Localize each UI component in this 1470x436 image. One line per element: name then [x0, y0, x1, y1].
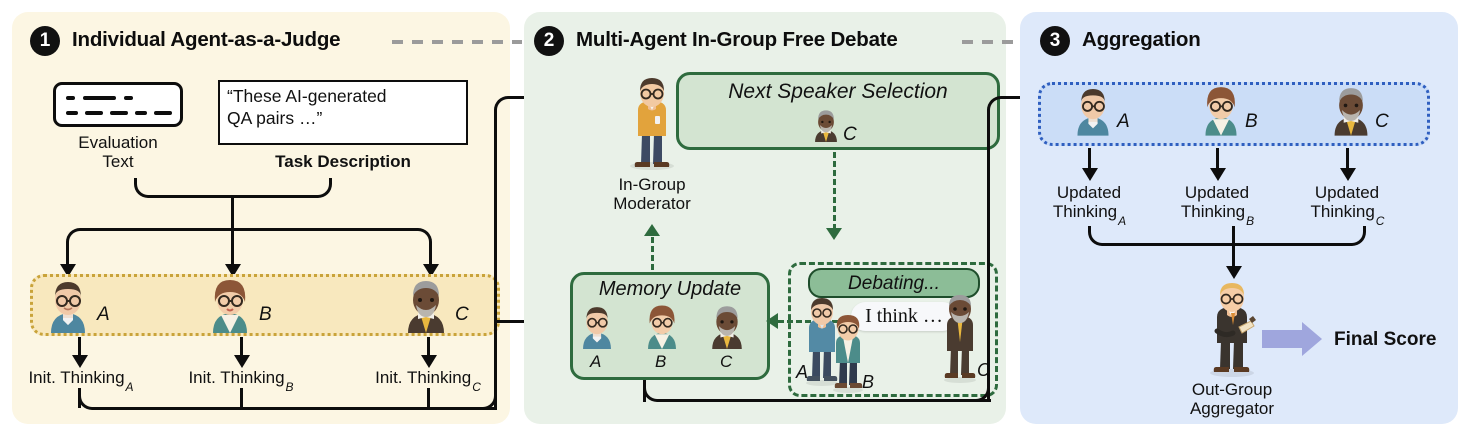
panel-title-3: Aggregation — [1082, 28, 1201, 52]
fanout-stem-b — [231, 228, 234, 266]
moderator-label-line1: In-Group — [618, 175, 685, 194]
final-score-arrow-head — [1302, 322, 1322, 356]
memory-update-title: Memory Update — [570, 278, 770, 301]
updated-thinking-b: Updated ThinkingB — [1161, 183, 1273, 225]
updated-thinking-b-sub: B — [1246, 214, 1254, 228]
evaluation-text-label: Evaluation Text — [38, 133, 198, 171]
agent-c-output-stem — [427, 337, 430, 357]
memory-letter-c: C — [720, 352, 732, 372]
agent-b-output-stem — [240, 337, 243, 357]
final-score-label: Final Score — [1334, 329, 1454, 350]
next-speaker-letter: C — [843, 124, 857, 146]
updated-thinking-a-line1: Updated — [1057, 183, 1121, 202]
avatar-updated-a — [1072, 84, 1114, 136]
agg-arrow-to-aggregator — [1226, 266, 1242, 279]
agent-b-output-arrow — [234, 355, 250, 368]
aggregator-label-line1: Out-Group — [1192, 380, 1272, 399]
updated-letter-b: B — [1245, 111, 1258, 133]
updated-thinking-c: Updated ThinkingC — [1291, 183, 1403, 225]
avatar-memory-c — [708, 303, 746, 349]
panel2-bottom-bus — [661, 399, 991, 402]
avatar-debate-c — [938, 295, 982, 383]
avatar-agent-a — [45, 277, 91, 333]
header-connector-1-2 — [392, 40, 522, 44]
fanout-stem-c — [429, 246, 432, 266]
task-description-label: Task Description — [218, 152, 468, 171]
agent-letter-a-panel1: A — [97, 304, 110, 326]
step-badge-1: 1 — [30, 26, 60, 56]
agent-a-output-arrow — [72, 355, 88, 368]
avatar-updated-c — [1330, 84, 1372, 136]
collect-bus — [96, 407, 496, 410]
collect-stem-b — [240, 388, 243, 408]
avatar-memory-a — [578, 303, 616, 349]
avatar-next-speaker-c — [812, 108, 840, 142]
in-group-moderator-label: In-Group Moderator — [592, 175, 712, 213]
updated-letter-c: C — [1375, 111, 1389, 133]
collect-stem-c — [427, 388, 430, 408]
diagram-canvas: 1 Individual Agent-as-a-Judge Evaluation… — [0, 0, 1470, 436]
updated-thinking-a-sub: A — [1118, 214, 1126, 228]
updated-thinking-a-line2: Thinking — [1053, 202, 1117, 221]
avatar-updated-b — [1200, 84, 1242, 136]
updated-a-arrow — [1082, 168, 1098, 181]
moderator-label-line2: Moderator — [613, 194, 690, 213]
debate-letter-b: B — [862, 372, 874, 393]
updated-b-arrow — [1210, 168, 1226, 181]
avatar-in-group-moderator — [624, 78, 680, 170]
avatar-memory-b — [643, 303, 681, 349]
document-lines-icon — [53, 82, 183, 127]
updated-thinking-c-line2: Thinking — [1311, 202, 1375, 221]
debating-status-text: Debating... — [848, 273, 940, 294]
updated-thinking-c-sub: C — [1376, 214, 1385, 228]
updated-letter-a: A — [1117, 111, 1130, 133]
next-speaker-selection-title: Next Speaker Selection — [676, 80, 1000, 104]
avatar-out-group-aggregator — [1201, 283, 1263, 377]
init-thinking-a-text: Init. Thinking — [28, 368, 124, 387]
updated-b-stem — [1216, 148, 1219, 170]
agg-brace-stem — [1232, 226, 1235, 268]
final-score-arrow-shaft — [1262, 330, 1302, 348]
memory-letter-b: B — [655, 352, 666, 372]
updated-thinking-a: Updated ThinkingA — [1033, 183, 1145, 225]
updated-thinking-b-line1: Updated — [1185, 183, 1249, 202]
updated-c-arrow — [1340, 168, 1356, 181]
avatar-agent-c — [403, 277, 449, 333]
aggregator-label-line2: Aggregator — [1190, 399, 1274, 418]
step-badge-3: 3 — [1040, 26, 1070, 56]
task-description-line2: QA pairs …” — [227, 108, 460, 130]
debating-status-badge: Debating... — [808, 268, 980, 298]
evaluation-text-label-line1: Evaluation — [78, 133, 157, 152]
panel2-to-panel3-riser — [987, 112, 990, 400]
panel-title-1: Individual Agent-as-a-Judge — [72, 28, 340, 52]
agg-brace-line — [1106, 243, 1348, 246]
out-group-aggregator-label: Out-Group Aggregator — [1172, 380, 1292, 418]
dashed-next-speaker-to-debate — [833, 152, 836, 230]
task-description-line1: “These AI-generated — [227, 86, 460, 108]
dashed-arrowhead-to-debate — [826, 228, 842, 240]
updated-thinking-c-line1: Updated — [1315, 183, 1379, 202]
updated-thinking-b-line2: Thinking — [1181, 202, 1245, 221]
panel1-to-panel2-riser — [494, 112, 497, 410]
evaluation-text-label-line2: Text — [102, 152, 133, 171]
agent-c-output-arrow — [421, 355, 437, 368]
dashed-arrowhead-to-moderator — [644, 224, 660, 236]
debate-letter-a: A — [796, 362, 808, 383]
fanout-stem-a — [66, 246, 69, 266]
updated-a-stem — [1088, 148, 1091, 170]
memory-letter-a: A — [590, 352, 601, 372]
brace-stem — [231, 195, 234, 230]
init-thinking-c-text: Init. Thinking — [375, 368, 471, 387]
init-thinking-b-sub: B — [286, 380, 294, 394]
fanout-bar — [84, 228, 414, 231]
init-thinking-b-text: Init. Thinking — [188, 368, 284, 387]
panel-title-2: Multi-Agent In-Group Free Debate — [576, 28, 898, 52]
task-description-box: “These AI-generated QA pairs …” — [218, 80, 468, 145]
avatar-agent-b — [207, 277, 253, 333]
dashed-arrowhead-to-memory — [766, 313, 778, 329]
updated-c-stem — [1346, 148, 1349, 170]
agent-letter-b-panel1: B — [259, 304, 272, 326]
step-badge-2: 2 — [534, 26, 564, 56]
agent-a-output-stem — [78, 337, 81, 357]
agent-letter-c-panel1: C — [455, 304, 469, 326]
init-thinking-a-sub: A — [126, 380, 134, 394]
